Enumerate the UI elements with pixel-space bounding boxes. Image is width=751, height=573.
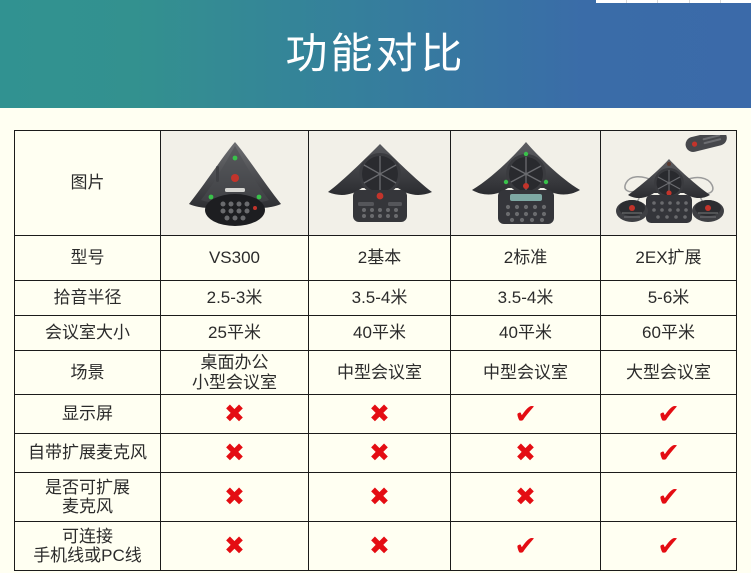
cell-expandable-mic-col2: ✖ — [309, 473, 451, 522]
cell-radius-col3: 3.5-4米 — [451, 281, 601, 316]
cell-scene-col4: 大型会议室 — [601, 351, 737, 395]
cell-room-col2: 40平米 — [309, 316, 451, 351]
conference-phone-2standard-icon — [451, 131, 600, 235]
cell-scene-col1: 桌面办公 小型会议室 — [161, 351, 309, 395]
page-title: 功能对比 — [285, 33, 465, 75]
cell-room-col1: 25平米 — [161, 316, 309, 351]
conference-phone-2basic-icon — [309, 131, 450, 235]
cross-icon: ✖ — [224, 533, 245, 558]
row-label-photo: 图片 — [15, 131, 161, 236]
connect-line-1: 可连接 — [18, 527, 157, 547]
scene-line-2: 小型会议室 — [164, 373, 305, 393]
extension-microphone-right — [692, 200, 724, 222]
cell-radius-col1: 2.5-3米 — [161, 281, 309, 316]
cell-model-col1: VS300 — [161, 236, 309, 281]
cell-builtin-mic-col2: ✖ — [309, 434, 451, 473]
table-row-expandable-mic: 是否可扩展 麦克风 ✖ ✖ ✖ ✔ — [15, 473, 737, 522]
row-label-display: 显示屏 — [15, 395, 161, 434]
cell-builtin-mic-col1: ✖ — [161, 434, 309, 473]
cell-model-col4: 2EX扩展 — [601, 236, 737, 281]
cell-connect-col1: ✖ — [161, 522, 309, 571]
connect-line-2: 手机线或PC线 — [18, 546, 157, 566]
cell-builtin-mic-col4: ✔ — [601, 434, 737, 473]
cell-room-col4: 60平米 — [601, 316, 737, 351]
cell-radius-col4: 5-6米 — [601, 281, 737, 316]
cross-icon: ✖ — [369, 533, 390, 558]
table-row-pickup-radius: 拾音半径 2.5-3米 3.5-4米 3.5-4米 5-6米 — [15, 281, 737, 316]
cell-expandable-mic-col4: ✔ — [601, 473, 737, 522]
table-row-photo: 图片 — [15, 131, 737, 236]
table-row-model: 型号 VS300 2基本 2标准 2EX扩展 — [15, 236, 737, 281]
top-edge-segment — [596, 0, 627, 3]
cross-icon: ✖ — [224, 401, 245, 426]
cell-radius-col2: 3.5-4米 — [309, 281, 451, 316]
cell-builtin-mic-col3: ✖ — [451, 434, 601, 473]
top-edge-segment — [658, 0, 689, 3]
scene-line-1: 桌面办公 — [164, 353, 305, 373]
top-edge-segment — [721, 0, 751, 3]
cross-icon: ✖ — [224, 484, 245, 509]
table-row-scene: 场景 桌面办公 小型会议室 中型会议室 中型会议室 大型会议室 — [15, 351, 737, 395]
check-icon: ✔ — [657, 533, 680, 560]
cell-model-col2: 2基本 — [309, 236, 451, 281]
cell-expandable-mic-col3: ✖ — [451, 473, 601, 522]
cross-icon: ✖ — [515, 484, 536, 509]
cross-icon: ✖ — [224, 440, 245, 465]
comparison-table-wrapper: 图片 — [14, 130, 736, 571]
cell-display-col1: ✖ — [161, 395, 309, 434]
cross-icon: ✖ — [369, 484, 390, 509]
row-label-model: 型号 — [15, 236, 161, 281]
cell-expandable-mic-col1: ✖ — [161, 473, 309, 522]
feature-comparison-table: 图片 — [14, 130, 737, 571]
row-label-connect: 可连接 手机线或PC线 — [15, 522, 161, 571]
conference-phone-vs300-icon — [161, 131, 308, 235]
cross-icon: ✖ — [369, 440, 390, 465]
table-row-builtin-mic: 自带扩展麦克风 ✖ ✖ ✖ ✔ — [15, 434, 737, 473]
table-row-connect: 可连接 手机线或PC线 ✖ ✖ ✔ ✔ — [15, 522, 737, 571]
cell-scene-col3: 中型会议室 — [451, 351, 601, 395]
conference-phone-2ex-with-mics-icon — [601, 131, 736, 235]
row-label-room-size: 会议室大小 — [15, 316, 161, 351]
row-label-expandable-mic: 是否可扩展 麦克风 — [15, 473, 161, 522]
cell-display-col3: ✔ — [451, 395, 601, 434]
table-row-room-size: 会议室大小 25平米 40平米 40平米 60平米 — [15, 316, 737, 351]
expandable-mic-line-2: 麦克风 — [18, 497, 157, 517]
row-label-builtin-mic: 自带扩展麦克风 — [15, 434, 161, 473]
page-header-banner: 功能对比 — [0, 0, 751, 108]
cross-icon: ✖ — [369, 401, 390, 426]
expandable-mic-line-1: 是否可扩展 — [18, 478, 157, 498]
check-icon: ✔ — [657, 401, 680, 428]
row-label-scene: 场景 — [15, 351, 161, 395]
cell-photo-col1 — [161, 131, 309, 236]
check-icon: ✔ — [657, 440, 680, 467]
cell-photo-col3 — [451, 131, 601, 236]
top-edge-segment — [627, 0, 658, 3]
cell-display-col4: ✔ — [601, 395, 737, 434]
top-edge-strip — [596, 0, 751, 3]
cell-display-col2: ✖ — [309, 395, 451, 434]
cell-connect-col3: ✔ — [451, 522, 601, 571]
table-row-display: 显示屏 ✖ ✖ ✔ ✔ — [15, 395, 737, 434]
check-icon: ✔ — [514, 533, 537, 560]
cell-photo-col4 — [601, 131, 737, 236]
extension-microphone-left — [616, 200, 648, 222]
cell-scene-col2: 中型会议室 — [309, 351, 451, 395]
check-icon: ✔ — [657, 484, 680, 511]
top-edge-segment — [690, 0, 721, 3]
cell-connect-col2: ✖ — [309, 522, 451, 571]
check-icon: ✔ — [514, 401, 537, 428]
cell-photo-col2 — [309, 131, 451, 236]
cell-connect-col4: ✔ — [601, 522, 737, 571]
cell-model-col3: 2标准 — [451, 236, 601, 281]
cell-room-col3: 40平米 — [451, 316, 601, 351]
row-label-pickup-radius: 拾音半径 — [15, 281, 161, 316]
cross-icon: ✖ — [515, 440, 536, 465]
